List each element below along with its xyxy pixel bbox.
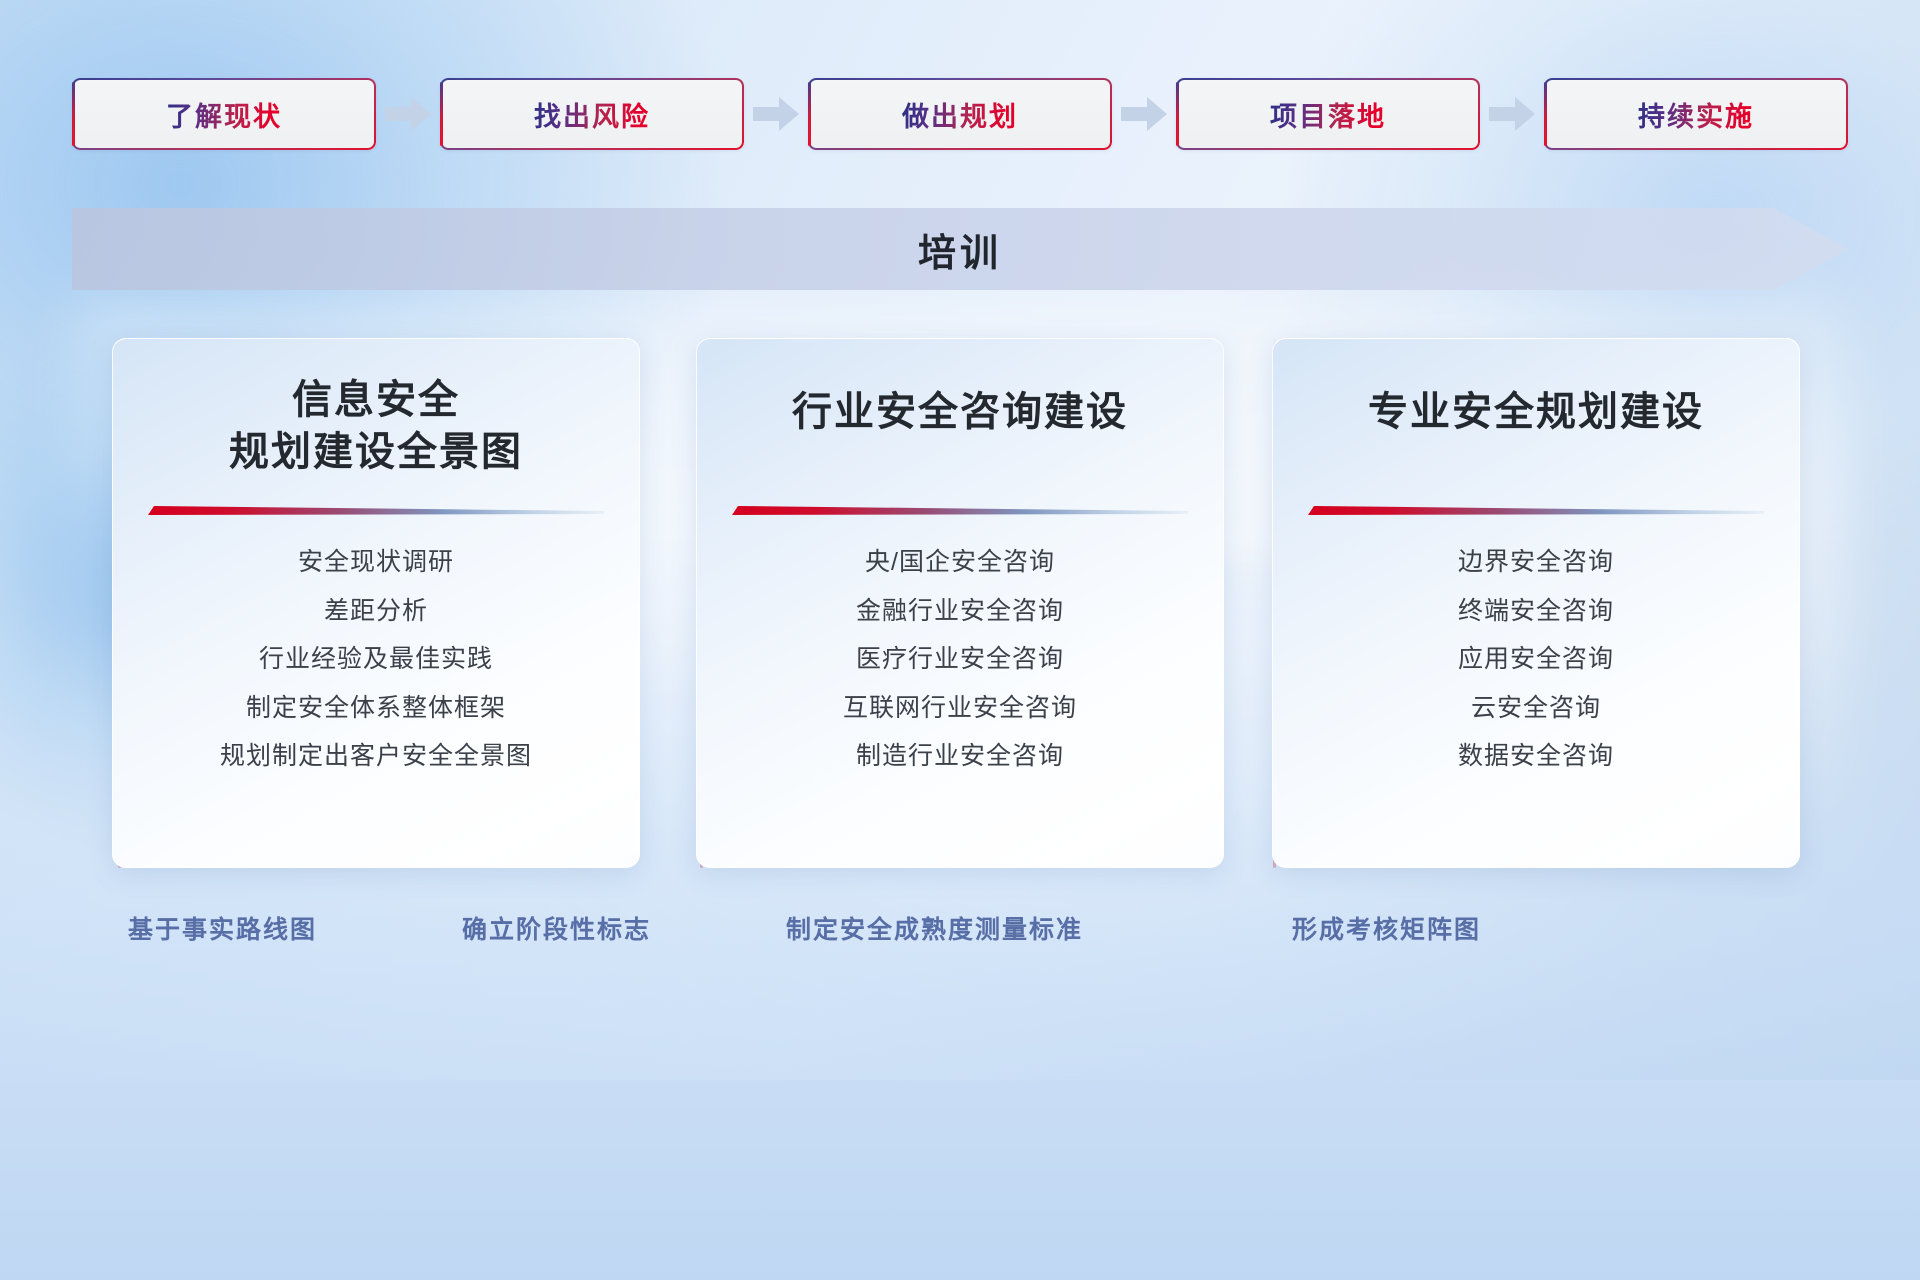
card-divider-2 [732,504,1188,520]
caption-maturity: 制定安全成熟度测量标准 [786,910,1083,946]
step-label-1: 了解现状 [166,95,282,134]
card-list-2: 央/国企安全咨询 金融行业安全咨询 医疗行业安全咨询 互联网行业安全咨询 制造行… [843,544,1077,776]
step-label-5: 持续实施 [1638,95,1754,134]
list-item: 央/国企安全咨询 [865,544,1055,582]
list-item: 金融行业安全咨询 [856,593,1064,631]
list-item: 互联网行业安全咨询 [843,690,1077,728]
card-list-1: 安全现状调研 差距分析 行业经验及最佳实践 制定安全体系整体框架 规划制定出客户… [220,544,532,776]
list-item: 医疗行业安全咨询 [856,641,1064,679]
card-title-1-line-2: 规划建设全景图 [229,426,523,478]
list-item: 规划制定出客户安全全景图 [220,738,532,776]
list-item: 应用安全咨询 [1458,641,1614,679]
card-title-3: 专业安全规划建设 [1368,386,1704,438]
list-item: 制造行业安全咨询 [856,738,1064,776]
caption-milestone: 确立阶段性标志 [462,910,651,946]
step-label-3: 做出规划 [902,95,1018,134]
step-box-1[interactable]: 了解现状 [72,78,376,150]
card-information-security-panorama[interactable]: 信息安全 规划建设全景图 [112,338,640,868]
list-item: 制定安全体系整体框架 [246,690,506,728]
training-banner: 培训 [72,208,1848,290]
list-item: 行业经验及最佳实践 [259,641,493,679]
card-list-3: 边界安全咨询 终端安全咨询 应用安全咨询 云安全咨询 数据安全咨询 [1458,544,1614,776]
list-item: 边界安全咨询 [1458,544,1614,582]
step-box-5[interactable]: 持续实施 [1544,78,1848,150]
caption-roadmap: 基于事实路线图 [128,910,317,946]
card-title-1-line-1: 信息安全 [229,374,523,426]
step-label-4: 项目落地 [1270,95,1386,134]
process-step-row: 了解现状 找出风险 做出规划 项目落地 持续实施 [72,78,1848,150]
card-divider-1 [148,504,604,520]
card-divider-3 [1308,504,1764,520]
card-professional-security-planning[interactable]: 专业安全规划建设 [1272,338,1800,868]
card-title-2-line-1: 行业安全咨询建设 [792,386,1128,438]
step-label-2: 找出风险 [534,95,650,134]
list-item: 数据安全咨询 [1458,738,1614,776]
arrow-right-icon [744,78,808,150]
list-item: 云安全咨询 [1471,690,1601,728]
arrow-right-icon [1112,78,1176,150]
arrow-right-icon [1480,78,1544,150]
caption-matrix: 形成考核矩阵图 [1292,910,1481,946]
card-title-3-line-1: 专业安全规划建设 [1368,386,1704,438]
list-item: 终端安全咨询 [1458,593,1614,631]
step-box-3[interactable]: 做出规划 [808,78,1112,150]
banner-title: 培训 [918,222,1002,277]
card-industry-security-consulting[interactable]: 行业安全咨询建设 [696,338,1224,868]
list-item: 安全现状调研 [298,544,454,582]
card-title-2: 行业安全咨询建设 [792,386,1128,438]
caption-row: 基于事实路线图 确立阶段性标志 制定安全成熟度测量标准 形成考核矩阵图 [0,910,1920,970]
card-title-1: 信息安全 规划建设全景图 [229,374,523,478]
arrow-right-icon [376,78,440,150]
card-row: 信息安全 规划建设全景图 [0,338,1920,870]
step-box-2[interactable]: 找出风险 [440,78,744,150]
banner-title-wrap: 培训 [72,208,1848,290]
step-box-4[interactable]: 项目落地 [1176,78,1480,150]
list-item: 差距分析 [324,593,428,631]
